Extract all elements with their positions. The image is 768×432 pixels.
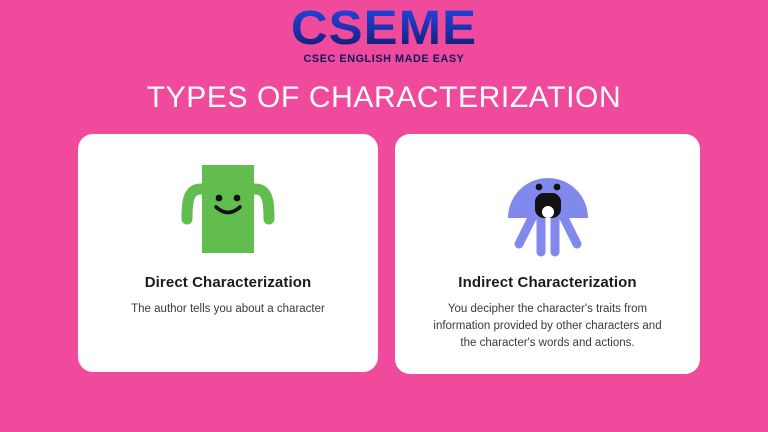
purple-dome-character-icon — [502, 160, 594, 263]
card-list: Direct Characterization The author tells… — [78, 134, 700, 374]
card-art — [502, 156, 594, 266]
card-title: Direct Characterization — [145, 274, 312, 291]
card-description: You decipher the character's traits from… — [433, 301, 663, 352]
brand-logo: CSEME CSEC ENGLISH MADE EASY — [0, 4, 768, 66]
brand-tagline: CSEC ENGLISH MADE EASY — [8, 53, 761, 66]
card-direct-characterization[interactable]: Direct Characterization The author tells… — [78, 134, 378, 372]
card-description: The author tells you about a character — [131, 301, 325, 318]
green-rectangle-character-icon — [181, 157, 275, 266]
card-title: Indirect Characterization — [458, 274, 636, 291]
card-art — [181, 156, 275, 266]
page-title: TYPES OF CHARACTERIZATION — [0, 80, 768, 116]
brand-wordmark: CSEME — [0, 4, 768, 54]
card-indirect-characterization[interactable]: Indirect Characterization You decipher t… — [395, 134, 700, 374]
slide-canvas: CSEME CSEC ENGLISH MADE EASY TYPES OF CH… — [0, 0, 768, 432]
